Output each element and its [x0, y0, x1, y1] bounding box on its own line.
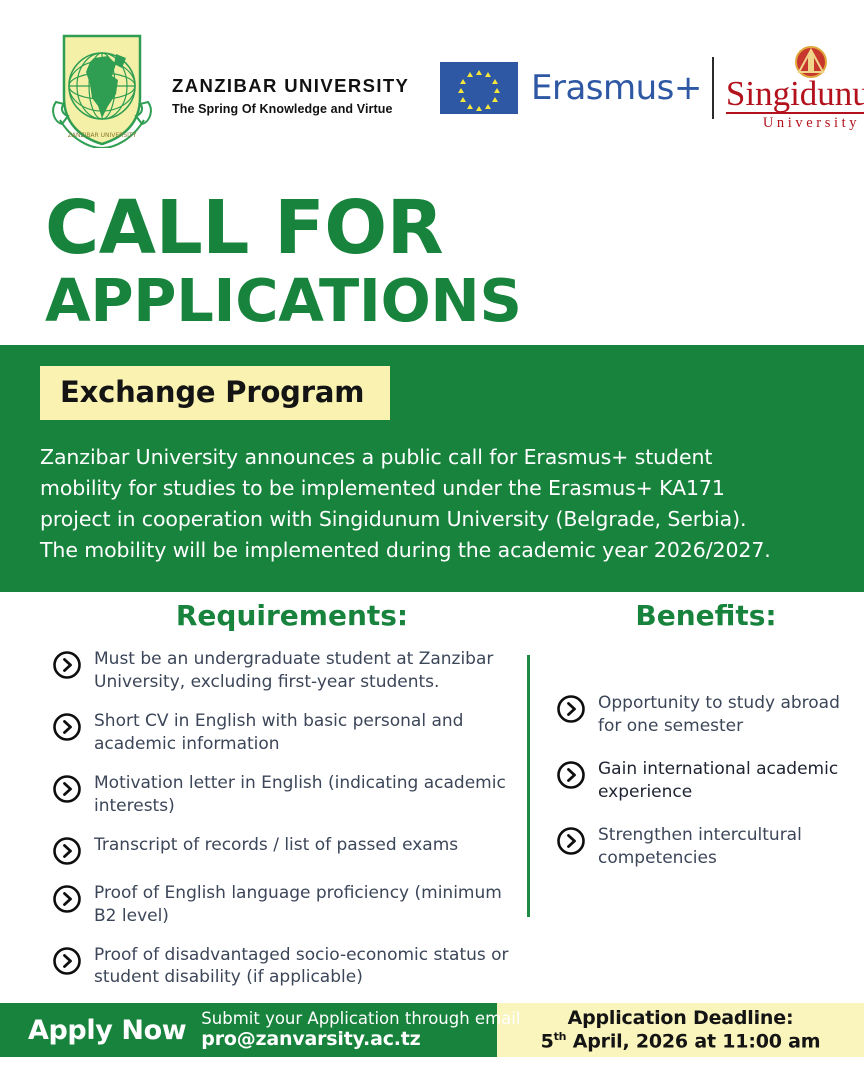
submit-instructions: Submit your Application through email pr…: [201, 1010, 520, 1050]
intro-paragraph-line: The mobility will be implemented during …: [40, 535, 826, 566]
list-item: Motivation letter in English (indicating…: [52, 770, 522, 818]
content-columns: Requirements: Must be an undergraduate s…: [0, 592, 864, 1002]
deadline-day: 5: [541, 1030, 554, 1052]
poster-footer: Apply Now Submit your Application throug…: [0, 1003, 864, 1057]
submit-instruction-text: Submit your Application through email: [201, 1009, 520, 1028]
list-item: Proof of disadvantaged socio-economic st…: [52, 942, 522, 990]
page-title-line-1: CALL FOR: [45, 192, 522, 265]
benefits-list: Opportunity to study abroad for one seme…: [556, 690, 856, 870]
chevron-right-circle-icon: [52, 712, 82, 742]
list-item-label: Opportunity to study abroad for one seme…: [598, 690, 856, 738]
logo-divider: [712, 57, 714, 119]
intro-paragraph-line: project in cooperation with Singidunum U…: [40, 504, 826, 535]
application-deadline: Application Deadline: 5th April, 2026 at…: [497, 1003, 864, 1057]
requirements-heading: Requirements:: [52, 592, 522, 630]
poster-header: ZANZIBAR UNIVERSITY ZANZIBAR UNIVERSITY …: [0, 0, 864, 170]
list-item: Proof of English language proficiency (m…: [52, 880, 522, 928]
intro-paragraph: Zanzibar University announces a public c…: [40, 442, 826, 567]
chevron-right-circle-icon: [556, 760, 586, 790]
singidunum-logo: Singidunum University: [726, 44, 864, 132]
list-item-label: Must be an undergraduate student at Zanz…: [94, 646, 522, 694]
chevron-right-circle-icon: [52, 946, 82, 976]
requirements-column: Requirements: Must be an undergraduate s…: [52, 592, 522, 1003]
list-item-label: Motivation letter in English (indicating…: [94, 770, 522, 818]
page-title: CALL FOR APPLICATIONS: [45, 192, 522, 330]
intro-banner: Exchange Program Zanzibar University ann…: [0, 345, 864, 592]
apply-now-label: Apply Now: [28, 1015, 186, 1046]
list-item: Must be an undergraduate student at Zanz…: [52, 646, 522, 694]
list-item-label: Proof of disadvantaged socio-economic st…: [94, 942, 522, 990]
list-item-label: Transcript of records / list of passed e…: [94, 832, 458, 857]
list-item: Gain international academic experience: [556, 756, 856, 804]
zanzibar-university-name: ZANZIBAR UNIVERSITY: [172, 76, 409, 96]
column-divider: [527, 655, 530, 917]
apply-now-bar[interactable]: Apply Now Submit your Application throug…: [0, 1003, 497, 1057]
list-item-label: Gain international academic experience: [598, 756, 856, 804]
application-email-link[interactable]: pro@zanvarsity.ac.tz: [201, 1028, 420, 1050]
chevron-right-circle-icon: [556, 694, 586, 724]
zanzibar-university-motto: The Spring Of Knowledge and Virtue: [172, 102, 409, 116]
exchange-program-badge-label: Exchange Program: [60, 378, 364, 407]
intro-paragraph-line: mobility for studies to be implemented u…: [40, 473, 826, 504]
poster-root: ZANZIBAR UNIVERSITY ZANZIBAR UNIVERSITY …: [0, 0, 864, 1080]
chevron-right-circle-icon: [52, 774, 82, 804]
application-deadline-date: 5th April, 2026 at 11:00 am: [541, 1030, 821, 1054]
list-item: Short CV in English with basic personal …: [52, 708, 522, 756]
singidunum-subtitle: University: [726, 115, 864, 132]
zanzibar-university-wordmark: ZANZIBAR UNIVERSITY The Spring Of Knowle…: [172, 60, 409, 115]
list-item: Opportunity to study abroad for one seme…: [556, 690, 856, 738]
list-item-label: Proof of English language proficiency (m…: [94, 880, 522, 928]
application-deadline-title: Application Deadline:: [568, 1007, 794, 1030]
deadline-rest: April, 2026 at 11:00 am: [566, 1030, 820, 1052]
erasmus-singidunum-logo-group: Erasmus+ Singidunum University: [440, 44, 864, 132]
list-item-label: Strengthen intercultural competencies: [598, 822, 856, 870]
list-item-label: Short CV in English with basic personal …: [94, 708, 522, 756]
requirements-list: Must be an undergraduate student at Zanz…: [52, 646, 522, 989]
intro-paragraph-line: Zanzibar University announces a public c…: [40, 442, 826, 473]
list-item: Transcript of records / list of passed e…: [52, 832, 522, 866]
singidunum-name: Singidunum: [726, 76, 864, 114]
erasmus-wordmark: Erasmus+: [531, 71, 702, 105]
deadline-ordinal: th: [554, 1030, 567, 1043]
zanzibar-university-shield-globe-icon: ZANZIBAR UNIVERSITY: [46, 28, 158, 148]
chevron-right-circle-icon: [52, 836, 82, 866]
benefits-column: Benefits: Opportunity to study abroad fo…: [556, 592, 856, 888]
list-item: Strengthen intercultural competencies: [556, 822, 856, 870]
benefits-heading: Benefits:: [556, 592, 856, 630]
eu-flag-icon: [440, 62, 518, 114]
svg-text:ZANZIBAR UNIVERSITY: ZANZIBAR UNIVERSITY: [68, 132, 137, 139]
exchange-program-badge: Exchange Program: [40, 366, 390, 420]
page-title-line-2: APPLICATIONS: [45, 271, 522, 330]
chevron-right-circle-icon: [556, 826, 586, 856]
zanzibar-university-logo: ZANZIBAR UNIVERSITY ZANZIBAR UNIVERSITY …: [46, 28, 409, 148]
chevron-right-circle-icon: [52, 650, 82, 680]
chevron-right-circle-icon: [52, 884, 82, 914]
